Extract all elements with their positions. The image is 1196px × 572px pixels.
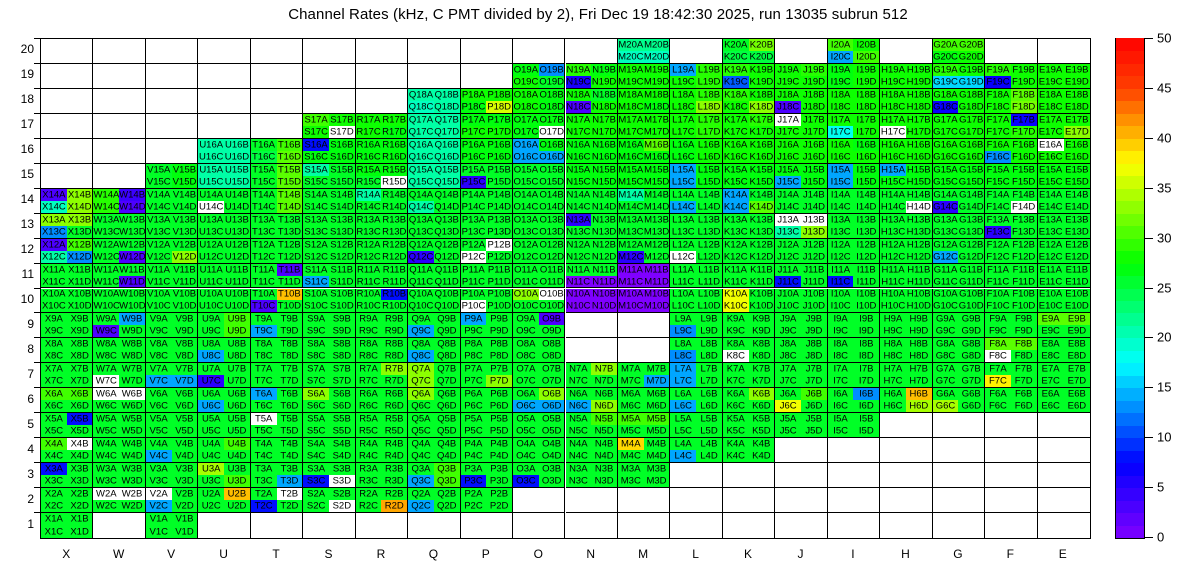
grid-cell-H16: H16AH16BH16CH16D bbox=[880, 139, 932, 164]
channel-I10C: I10C bbox=[828, 300, 854, 312]
grid-cell-R11: R11AR11BR11CR11D bbox=[356, 264, 408, 289]
grid-cell-N15: N15AN15BN15CN15D bbox=[566, 164, 618, 189]
channel-J14C: J14C bbox=[775, 201, 801, 213]
channel-O15D: O15D bbox=[539, 176, 565, 188]
grid-cell-O8: O8AO8BO8CO8D bbox=[513, 338, 565, 363]
channel-N5A: N5A bbox=[566, 413, 592, 425]
channel-O19A: O19A bbox=[513, 64, 539, 76]
channel-O5D: O5D bbox=[539, 425, 565, 437]
channel-G7C: G7C bbox=[933, 375, 959, 387]
channel-J12A: J12A bbox=[775, 239, 801, 251]
channel-W12D: W12D bbox=[119, 251, 145, 263]
channel-Q6A: Q6A bbox=[408, 388, 434, 400]
y-axis-tick-10: 10 bbox=[2, 292, 34, 306]
channel-H10D: H10D bbox=[906, 300, 932, 312]
channel-L11A: L11A bbox=[670, 264, 696, 276]
channel-O6D: O6D bbox=[539, 400, 565, 412]
channel-W8B: W8B bbox=[119, 338, 145, 350]
channel-Q10D: Q10D bbox=[434, 300, 460, 312]
channel-P2A: P2A bbox=[461, 488, 487, 500]
channel-G16B: G16B bbox=[958, 139, 984, 151]
channel-E18B: E18B bbox=[1064, 89, 1090, 101]
channel-I20A: I20A bbox=[828, 39, 854, 51]
channel-K17D: K17D bbox=[749, 126, 775, 138]
grid-cell-S18 bbox=[303, 89, 355, 114]
channel-X2B: X2B bbox=[67, 488, 93, 500]
grid-cell-X12: X12AX12BX12CX12D bbox=[41, 239, 93, 264]
channel-R16C: R16C bbox=[356, 151, 382, 163]
channel-N5D: N5D bbox=[591, 425, 617, 437]
grid-cell-H5 bbox=[880, 413, 932, 438]
grid-cell-S14: S14AS14BS14CS14D bbox=[303, 189, 355, 214]
grid-cell-M12: M12AM12BM12CM12D bbox=[618, 239, 670, 264]
channel-Q9D: Q9D bbox=[434, 325, 460, 337]
channel-K8D: K8D bbox=[749, 350, 775, 362]
grid-cell-F8: F8AF8BF8CF8D bbox=[985, 338, 1037, 363]
grid-cell-G17: G17AG17BG17CG17D bbox=[933, 114, 985, 139]
channel-M7D: M7D bbox=[644, 375, 670, 387]
channel-P15B: P15B bbox=[486, 164, 512, 176]
channel-R13D: R13D bbox=[381, 226, 407, 238]
channel-W10B: W10B bbox=[119, 289, 145, 301]
y-axis-tick-13: 13 bbox=[2, 217, 34, 231]
channel-G15A: G15A bbox=[933, 164, 959, 176]
channel-K7C: K7C bbox=[723, 375, 749, 387]
channel-R7A: R7A bbox=[356, 363, 382, 375]
colorbar-tickmark bbox=[1145, 387, 1153, 388]
channel-J14D: J14D bbox=[801, 201, 827, 213]
channel-N18A: N18A bbox=[566, 89, 592, 101]
channel-K20B: K20B bbox=[749, 39, 775, 51]
colorbar-label-35: 35 bbox=[1157, 180, 1171, 195]
channel-P14C: P14C bbox=[461, 201, 487, 213]
channel-M3C: M3C bbox=[618, 475, 644, 487]
channel-L8C: L8C bbox=[670, 350, 696, 362]
channel-E15A: E15A bbox=[1038, 164, 1064, 176]
grid-cell-F17: F17AF17BF17CF17D bbox=[985, 114, 1037, 139]
channel-T12D: T12D bbox=[277, 251, 303, 263]
channel-K20D: K20D bbox=[749, 51, 775, 63]
channel-U9A: U9A bbox=[198, 313, 224, 325]
channel-K18C: K18C bbox=[723, 101, 749, 113]
channel-E6A: E6A bbox=[1038, 388, 1064, 400]
channel-I20D: I20D bbox=[853, 51, 879, 63]
grid-cell-G4 bbox=[933, 438, 985, 463]
channel-S7A: S7A bbox=[303, 363, 329, 375]
channel-G10D: G10D bbox=[958, 300, 984, 312]
channel-E12A: E12A bbox=[1038, 239, 1064, 251]
channel-M18B: M18B bbox=[644, 89, 670, 101]
channel-O16B: O16B bbox=[539, 139, 565, 151]
channel-L15A: L15A bbox=[670, 164, 696, 176]
channel-V11A: V11A bbox=[146, 264, 172, 276]
channel-R17A: R17A bbox=[356, 114, 382, 126]
grid-cell-V19 bbox=[146, 64, 198, 89]
channel-H18A: H18A bbox=[880, 89, 906, 101]
channel-R3D: R3D bbox=[381, 475, 407, 487]
channel-T14B: T14B bbox=[277, 189, 303, 201]
channel-H17B: H17B bbox=[906, 114, 932, 126]
grid-cell-I20: I20AI20BI20CI20D bbox=[828, 39, 880, 64]
channel-T3D: T3D bbox=[277, 475, 303, 487]
channel-P5A: P5A bbox=[461, 413, 487, 425]
channel-E8A: E8A bbox=[1038, 338, 1064, 350]
channel-P4B: P4B bbox=[486, 438, 512, 450]
channel-E10A: E10A bbox=[1038, 289, 1064, 301]
channel-F12D: F12D bbox=[1011, 251, 1037, 263]
grid-cell-I14: I14AI14BI14CI14D bbox=[828, 189, 880, 214]
channel-V9A: V9A bbox=[146, 313, 172, 325]
channel-J14A: J14A bbox=[775, 189, 801, 201]
channel-N11A: N11A bbox=[566, 264, 592, 276]
channel-T2B: T2B bbox=[277, 488, 303, 500]
channel-M13D: M13D bbox=[644, 226, 670, 238]
grid-cell-O14: O14AO14BO14CO14D bbox=[513, 189, 565, 214]
grid-cell-K15: K15AK15BK15CK15D bbox=[723, 164, 775, 189]
channel-U14C: U14C bbox=[198, 201, 224, 213]
channel-N12A: N12A bbox=[566, 239, 592, 251]
channel-I6B: I6B bbox=[853, 388, 879, 400]
channel-Q15A: Q15A bbox=[408, 164, 434, 176]
channel-I7C: I7C bbox=[828, 375, 854, 387]
grid-cell-Q1 bbox=[408, 513, 460, 538]
channel-U5A: U5A bbox=[198, 413, 224, 425]
grid-cell-Q18: Q18AQ18BQ18CQ18D bbox=[408, 89, 460, 114]
channel-V4A: V4A bbox=[146, 438, 172, 450]
grid-cell-T15: T15AT15BT15CT15D bbox=[251, 164, 303, 189]
grid-cell-X19 bbox=[41, 64, 93, 89]
channel-M6B: M6B bbox=[644, 388, 670, 400]
channel-T9C: T9C bbox=[251, 325, 277, 337]
channel-O3A: O3A bbox=[513, 463, 539, 475]
channel-V1B: V1B bbox=[172, 513, 198, 525]
grid-cell-J16: J16AJ16BJ16CJ16D bbox=[775, 139, 827, 164]
channel-L11C: L11C bbox=[670, 276, 696, 288]
channel-Q11B: Q11B bbox=[434, 264, 460, 276]
channel-I8D: I8D bbox=[853, 350, 879, 362]
grid-cell-I3 bbox=[828, 463, 880, 488]
grid-cell-U19 bbox=[198, 64, 250, 89]
grid-cell-J10: J10AJ10BJ10CJ10D bbox=[775, 289, 827, 314]
channel-W2B: W2B bbox=[119, 488, 145, 500]
grid-cell-L13: L13AL13BL13CL13D bbox=[670, 214, 722, 239]
channel-P6B: P6B bbox=[486, 388, 512, 400]
channel-E8C: E8C bbox=[1038, 350, 1064, 362]
channel-I6C: I6C bbox=[828, 400, 854, 412]
channel-U9B: U9B bbox=[224, 313, 250, 325]
grid-cell-K16: K16AK16BK16CK16D bbox=[723, 139, 775, 164]
channel-V15A: V15A bbox=[146, 164, 172, 176]
channel-G9B: G9B bbox=[958, 313, 984, 325]
grid-cell-V13: V13AV13BV13CV13D bbox=[146, 214, 198, 239]
channel-H8B: H8B bbox=[906, 338, 932, 350]
channel-W9A: W9A bbox=[93, 313, 119, 325]
channel-O18A: O18A bbox=[513, 89, 539, 101]
channel-W2D: W2D bbox=[119, 500, 145, 512]
channel-L16B: L16B bbox=[696, 139, 722, 151]
channel-Q18D: Q18D bbox=[434, 101, 460, 113]
channel-H12B: H12B bbox=[906, 239, 932, 251]
x-axis-tick-J: J bbox=[774, 547, 828, 561]
channel-Q17D: Q17D bbox=[434, 126, 460, 138]
channel-W5A: W5A bbox=[93, 413, 119, 425]
channel-T7C: T7C bbox=[251, 375, 277, 387]
channel-T3B: T3B bbox=[277, 463, 303, 475]
channel-X12A: X12A bbox=[41, 239, 67, 251]
channel-N11D: N11D bbox=[591, 276, 617, 288]
channel-F17A: F17A bbox=[985, 114, 1011, 126]
grid-cell-X9: X9AX9BX9CX9D bbox=[41, 313, 93, 338]
channel-V6A: V6A bbox=[146, 388, 172, 400]
channel-I9D: I9D bbox=[853, 325, 879, 337]
channel-I9A: I9A bbox=[828, 313, 854, 325]
grid-cell-P18: P18AP18BP18CP18D bbox=[461, 89, 513, 114]
channel-E15B: E15B bbox=[1064, 164, 1090, 176]
grid-cell-J1 bbox=[775, 513, 827, 538]
grid-cell-E4 bbox=[1038, 438, 1090, 463]
channel-H18D: H18D bbox=[906, 101, 932, 113]
grid-cell-O3: O3AO3BO3CO3D bbox=[513, 463, 565, 488]
channel-O12C: O12C bbox=[513, 251, 539, 263]
channel-G9D: G9D bbox=[958, 325, 984, 337]
grid-cell-W6: W6AW6BW6CW6D bbox=[93, 388, 145, 413]
grid-cell-G18: G18AG18BG18CG18D bbox=[933, 89, 985, 114]
grid-cell-K12: K12AK12BK12CK12D bbox=[723, 239, 775, 264]
channel-E14C: E14C bbox=[1038, 201, 1064, 213]
channel-I13D: I13D bbox=[853, 226, 879, 238]
channel-R9B: R9B bbox=[381, 313, 407, 325]
colorbar-label-20: 20 bbox=[1157, 330, 1171, 345]
channel-I19B: I19B bbox=[853, 64, 879, 76]
grid-cell-I19: I19AI19BI19CI19D bbox=[828, 64, 880, 89]
channel-J8D: J8D bbox=[801, 350, 827, 362]
channel-P9D: P9D bbox=[486, 325, 512, 337]
grid-cell-N4: N4AN4BN4CN4D bbox=[566, 438, 618, 463]
channel-V13B: V13B bbox=[172, 214, 198, 226]
grid-cell-K3 bbox=[723, 463, 775, 488]
channel-V12D: V12D bbox=[172, 251, 198, 263]
channel-M10A: M10A bbox=[618, 289, 644, 301]
channel-E18C: E18C bbox=[1038, 101, 1064, 113]
grid-cell-V11: V11AV11BV11CV11D bbox=[146, 264, 198, 289]
channel-M17B: M17B bbox=[644, 114, 670, 126]
channel-T7A: T7A bbox=[251, 363, 277, 375]
channel-X2D: X2D bbox=[67, 500, 93, 512]
grid-cell-E11: E11AE11BE11CE11D bbox=[1038, 264, 1090, 289]
channel-M4A: M4A bbox=[618, 438, 644, 450]
channel-U4C: U4C bbox=[198, 450, 224, 462]
channel-L10D: L10D bbox=[696, 300, 722, 312]
channel-V12B: V12B bbox=[172, 239, 198, 251]
channel-X10C: X10C bbox=[41, 300, 67, 312]
channel-R7C: R7C bbox=[356, 375, 382, 387]
y-axis-tick-16: 16 bbox=[2, 142, 34, 156]
grid-cell-N9 bbox=[566, 313, 618, 338]
grid-cell-X4: X4AX4BX4CX4D bbox=[41, 438, 93, 463]
channel-K4A: K4A bbox=[723, 438, 749, 450]
grid-cell-K9: K9AK9BK9CK9D bbox=[723, 313, 775, 338]
grid-cell-J7: J7AJ7BJ7CJ7D bbox=[775, 363, 827, 388]
grid-cell-W12: W12AW12BW12CW12D bbox=[93, 239, 145, 264]
grid-cell-V12: V12AV12BV12CV12D bbox=[146, 239, 198, 264]
channel-F8B: F8B bbox=[1011, 338, 1037, 350]
channel-F16A: F16A bbox=[985, 139, 1011, 151]
channel-E19B: E19B bbox=[1064, 64, 1090, 76]
channel-U12C: U12C bbox=[198, 251, 224, 263]
channel-E6B: E6B bbox=[1064, 388, 1090, 400]
grid-cell-K7: K7AK7BK7CK7D bbox=[723, 363, 775, 388]
channel-E17D: E17D bbox=[1064, 126, 1090, 138]
grid-cell-J9: J9AJ9BJ9CJ9D bbox=[775, 313, 827, 338]
channel-G14B: G14B bbox=[958, 189, 984, 201]
channel-U12B: U12B bbox=[224, 239, 250, 251]
y-axis-tick-1: 1 bbox=[2, 517, 34, 531]
channel-Q14B: Q14B bbox=[434, 189, 460, 201]
channel-F13B: F13B bbox=[1011, 214, 1037, 226]
grid-cell-I10: I10AI10BI10CI10D bbox=[828, 289, 880, 314]
channel-L13B: L13B bbox=[696, 214, 722, 226]
grid-cell-U3: U3AU3BU3CU3D bbox=[198, 463, 250, 488]
channel-G8C: G8C bbox=[933, 350, 959, 362]
channel-V7C: V7C bbox=[146, 375, 172, 387]
y-axis-tick-4: 4 bbox=[2, 442, 34, 456]
channel-N3B: N3B bbox=[591, 463, 617, 475]
channel-U8A: U8A bbox=[198, 338, 224, 350]
channel-N11B: N11B bbox=[591, 264, 617, 276]
channel-Q8B: Q8B bbox=[434, 338, 460, 350]
channel-Q4C: Q4C bbox=[408, 450, 434, 462]
channel-L15D: L15D bbox=[696, 176, 722, 188]
channel-M16A: M16A bbox=[618, 139, 644, 151]
grid-cell-S17: S17AS17BS17CS17D bbox=[303, 114, 355, 139]
grid-cell-W15 bbox=[93, 164, 145, 189]
channel-I13C: I13C bbox=[828, 226, 854, 238]
colorbar-tickmark bbox=[1145, 138, 1153, 139]
grid-cell-P9: P9AP9BP9CP9D bbox=[461, 313, 513, 338]
channel-M10B: M10B bbox=[644, 289, 670, 301]
channel-S4A: S4A bbox=[303, 438, 329, 450]
channel-N10A: N10A bbox=[566, 289, 592, 301]
channel-L9C: L9C bbox=[670, 325, 696, 337]
channel-P17A: P17A bbox=[461, 114, 487, 126]
channel-U13D: U13D bbox=[224, 226, 250, 238]
channel-U9C: U9C bbox=[198, 325, 224, 337]
channel-L7D: L7D bbox=[696, 375, 722, 387]
channel-R15A: R15A bbox=[356, 164, 382, 176]
heatmap-plot-area: M20AM20BM20CM20DK20AK20BK20CK20DI20AI20B… bbox=[40, 38, 1091, 539]
channel-T8D: T8D bbox=[277, 350, 303, 362]
channel-I15A: I15A bbox=[828, 164, 854, 176]
channel-S4D: S4D bbox=[329, 450, 355, 462]
channel-O18B: O18B bbox=[539, 89, 565, 101]
channel-L14A: L14A bbox=[670, 189, 696, 201]
channel-X5A: X5A bbox=[41, 413, 67, 425]
channel-O4A: O4A bbox=[513, 438, 539, 450]
channel-J17B: J17B bbox=[801, 114, 827, 126]
grid-cell-T6: T6AT6BT6CT6D bbox=[251, 388, 303, 413]
channel-Q11C: Q11C bbox=[408, 276, 434, 288]
channel-X10D: X10D bbox=[67, 300, 93, 312]
channel-L5B: L5B bbox=[696, 413, 722, 425]
channel-L13D: L13D bbox=[696, 226, 722, 238]
channel-U16A: U16A bbox=[198, 139, 224, 151]
channel-T15C: T15C bbox=[251, 176, 277, 188]
channel-X2C: X2C bbox=[41, 500, 67, 512]
grid-cell-W14: W14AW14BW14CW14D bbox=[93, 189, 145, 214]
channel-I16D: I16D bbox=[853, 151, 879, 163]
channel-P11D: P11D bbox=[486, 276, 512, 288]
channel-K9C: K9C bbox=[723, 325, 749, 337]
channel-F8C: F8C bbox=[985, 350, 1011, 362]
channel-O16D: O16D bbox=[539, 151, 565, 163]
channel-S9C: S9C bbox=[303, 325, 329, 337]
channel-O11A: O11A bbox=[513, 264, 539, 276]
channel-T4B: T4B bbox=[277, 438, 303, 450]
grid-cell-E6: E6AE6BE6CE6D bbox=[1038, 388, 1090, 413]
channel-W4A: W4A bbox=[93, 438, 119, 450]
channel-K9A: K9A bbox=[723, 313, 749, 325]
channel-F11B: F11B bbox=[1011, 264, 1037, 276]
y-axis-tick-3: 3 bbox=[2, 467, 34, 481]
channel-Q6C: Q6C bbox=[408, 400, 434, 412]
y-axis-tick-5: 5 bbox=[2, 417, 34, 431]
channel-K13A: K13A bbox=[723, 214, 749, 226]
channel-O9A: O9A bbox=[513, 313, 539, 325]
channel-P11C: P11C bbox=[461, 276, 487, 288]
grid-cell-H12: H12AH12BH12CH12D bbox=[880, 239, 932, 264]
channel-U8B: U8B bbox=[224, 338, 250, 350]
channel-M6A: M6A bbox=[618, 388, 644, 400]
channel-V7A: V7A bbox=[146, 363, 172, 375]
channel-S5A: S5A bbox=[303, 413, 329, 425]
channel-V9B: V9B bbox=[172, 313, 198, 325]
channel-V10C: V10C bbox=[146, 300, 172, 312]
channel-J14B: J14B bbox=[801, 189, 827, 201]
channel-W12A: W12A bbox=[93, 239, 119, 251]
grid-cell-Q8: Q8AQ8BQ8CQ8D bbox=[408, 338, 460, 363]
grid-cell-J17: J17AJ17BJ17CJ17D bbox=[775, 114, 827, 139]
channel-R4D: R4D bbox=[381, 450, 407, 462]
channel-I12B: I12B bbox=[853, 239, 879, 251]
channel-Q14A: Q14A bbox=[408, 189, 434, 201]
channel-R5C: R5C bbox=[356, 425, 382, 437]
grid-cell-S13: S13AS13BS13CS13D bbox=[303, 214, 355, 239]
y-axis-tick-14: 14 bbox=[2, 192, 34, 206]
channel-rates-figure: Channel Rates (kHz, C PMT divided by 2),… bbox=[0, 0, 1196, 572]
channel-W14B: W14B bbox=[119, 189, 145, 201]
channel-Q8D: Q8D bbox=[434, 350, 460, 362]
grid-cell-L8: L8AL8BL8CL8D bbox=[670, 338, 722, 363]
channel-N13D: N13D bbox=[591, 226, 617, 238]
channel-Q7D: Q7D bbox=[434, 375, 460, 387]
grid-cell-K8: K8AK8BK8CK8D bbox=[723, 338, 775, 363]
channel-Q17B: Q17B bbox=[434, 114, 460, 126]
channel-Q9B: Q9B bbox=[434, 313, 460, 325]
grid-cell-O11: O11AO11BO11CO11D bbox=[513, 264, 565, 289]
grid-cell-X5: X5AX5BX5CX5D bbox=[41, 413, 93, 438]
channel-E17B: E17B bbox=[1064, 114, 1090, 126]
channel-F6B: F6B bbox=[1011, 388, 1037, 400]
grid-cell-T11: T11AT11BT11CT11D bbox=[251, 264, 303, 289]
channel-M11A: M11A bbox=[618, 264, 644, 276]
grid-cell-Q2: Q2AQ2BQ2CQ2D bbox=[408, 488, 460, 513]
channel-Q11A: Q11A bbox=[408, 264, 434, 276]
grid-cell-E16: E16AE16BE16CE16D bbox=[1038, 139, 1090, 164]
y-axis-tick-15: 15 bbox=[2, 167, 34, 181]
channel-F18C: F18C bbox=[985, 101, 1011, 113]
grid-cell-U5: U5AU5BU5CU5D bbox=[198, 413, 250, 438]
channel-X10A: X10A bbox=[41, 289, 67, 301]
